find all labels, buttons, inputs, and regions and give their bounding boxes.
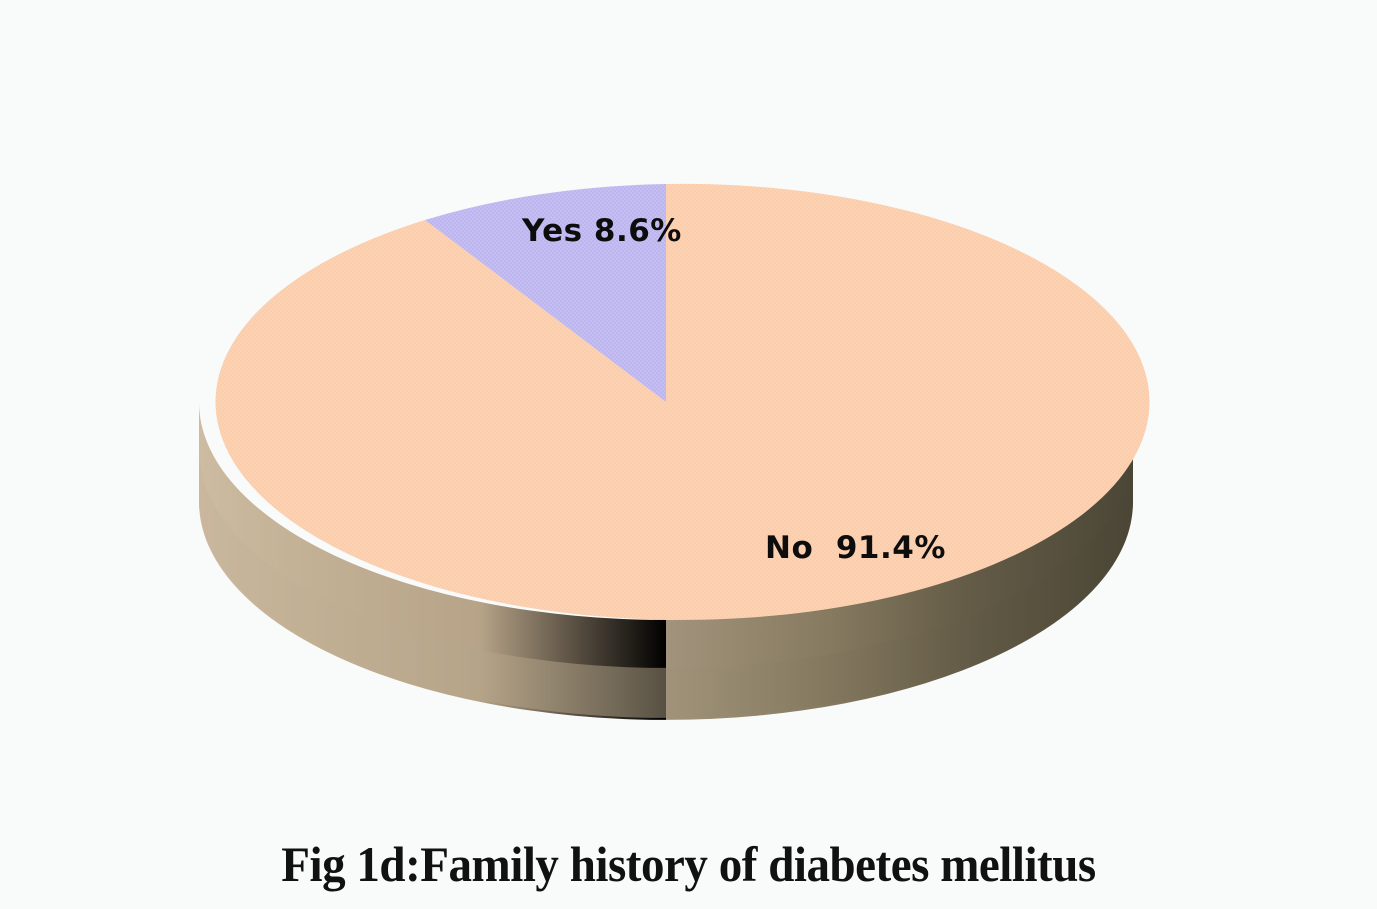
pie-slice-label-no: No 91.4%	[765, 533, 946, 564]
pie-slice-no	[216, 184, 1150, 620]
pie-chart-graphic	[0, 0, 1377, 909]
chart-title: Fig 1d:Family history of diabetes mellit…	[41, 838, 1335, 891]
chart-canvas: Yes 8.6% No 91.4% Fig 1d:Family history …	[0, 0, 1377, 909]
pie-slice-label-yes: Yes 8.6%	[522, 216, 682, 247]
